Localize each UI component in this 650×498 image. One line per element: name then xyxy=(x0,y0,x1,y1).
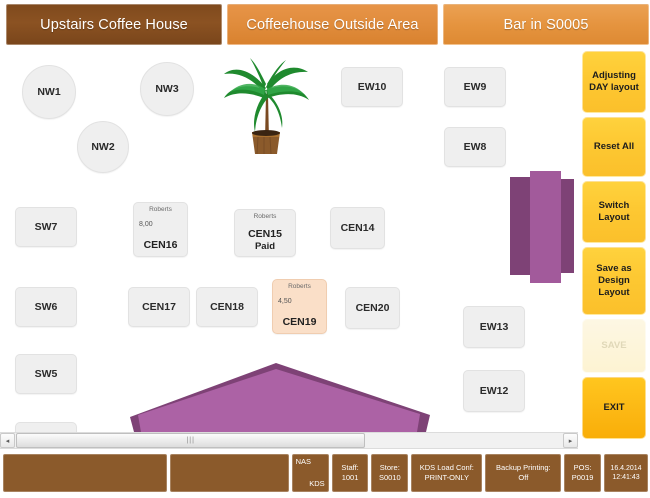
table-cen16[interactable]: Roberts 8,00 CEN16 xyxy=(133,202,188,257)
table-label: CEN19 xyxy=(273,316,326,328)
table-customer-name: Roberts xyxy=(134,206,187,213)
backup-printing-label: Backup Printing: xyxy=(496,463,551,473)
table-label: EW8 xyxy=(464,141,487,153)
floorplan-canvas[interactable]: NW1 NW3 NW2 EW10 EW9 EW8 SW7 Roberts 8,0… xyxy=(0,47,578,432)
table-label: CEN18 xyxy=(210,301,244,313)
backup-printing-value: Off xyxy=(518,473,528,483)
palm-plant-icon xyxy=(216,54,316,159)
pos-table-layout-screen: Upstairs Coffee House Coffeehouse Outsid… xyxy=(0,0,650,498)
tab-bar-in-s0005[interactable]: Bar in S0005 xyxy=(443,4,649,45)
table-label: CEN15 xyxy=(235,228,295,240)
table-sw4-partial[interactable] xyxy=(15,422,77,432)
table-cen17[interactable]: CEN17 xyxy=(128,287,190,327)
scroll-left-arrow-icon[interactable]: ◂ xyxy=(0,433,15,448)
table-sw5[interactable]: SW5 xyxy=(15,354,77,394)
tab-upstairs-coffee-house[interactable]: Upstairs Coffee House xyxy=(6,4,222,45)
table-label: EW9 xyxy=(464,81,487,93)
table-cen15[interactable]: Roberts CEN15 Paid xyxy=(234,209,296,257)
store-value: S0010 xyxy=(379,473,401,483)
tab-label: Coffeehouse Outside Area xyxy=(246,17,418,33)
table-amount: 8,00 xyxy=(139,221,153,228)
status-time: 12:41:43 xyxy=(612,473,639,482)
table-sw6[interactable]: SW6 xyxy=(15,287,77,327)
table-sw7[interactable]: SW7 xyxy=(15,207,77,247)
table-ew12[interactable]: EW12 xyxy=(463,370,525,412)
table-label: NW3 xyxy=(155,83,178,95)
pos-value: P0019 xyxy=(572,473,594,483)
staff-label: Staff: xyxy=(341,463,358,473)
table-customer-name: Roberts xyxy=(235,213,295,220)
tab-label: Upstairs Coffee House xyxy=(40,17,188,33)
table-ew10[interactable]: EW10 xyxy=(341,67,403,107)
table-cen20[interactable]: CEN20 xyxy=(345,287,400,329)
table-nw2[interactable]: NW2 xyxy=(77,121,129,173)
table-customer-name: Roberts xyxy=(273,283,326,290)
nas-label: NAS xyxy=(296,457,325,467)
table-label: EW10 xyxy=(358,81,387,93)
table-ew9[interactable]: EW9 xyxy=(444,67,506,107)
table-amount: 4,50 xyxy=(278,298,292,305)
table-label: SW5 xyxy=(35,368,58,380)
table-label: EW13 xyxy=(480,321,509,333)
kds-label: KDS xyxy=(296,479,325,489)
table-label: CEN20 xyxy=(356,302,390,314)
scrollbar-track[interactable]: ||| xyxy=(16,433,562,448)
table-label: EW12 xyxy=(480,385,509,397)
kds-load-conf-value: PRINT-ONLY xyxy=(425,473,469,483)
horizontal-scrollbar[interactable]: ◂ ||| ▸ xyxy=(0,432,578,449)
table-label: CEN17 xyxy=(142,301,176,313)
staff-value: 1001 xyxy=(342,473,359,483)
switch-layout-button[interactable]: Switch Layout xyxy=(582,181,646,243)
table-label: CEN14 xyxy=(341,222,375,234)
status-staff[interactable]: Staff: 1001 xyxy=(332,454,369,492)
table-paid-badge: Paid xyxy=(235,241,295,252)
status-datetime[interactable]: 16.4.2014 12:41:43 xyxy=(604,454,648,492)
save-as-design-layout-button[interactable]: Save as Design Layout xyxy=(582,247,646,315)
stage-platform-shape xyxy=(118,357,438,432)
status-nas-kds[interactable]: NAS KDS xyxy=(292,454,329,492)
status-blank-panel-1[interactable] xyxy=(3,454,167,492)
table-nw3[interactable]: NW3 xyxy=(140,62,194,116)
bar-counter-left xyxy=(510,177,532,275)
scroll-right-arrow-icon[interactable]: ▸ xyxy=(563,433,578,448)
status-backup-printing[interactable]: Backup Printing: Off xyxy=(485,454,561,492)
table-ew13[interactable]: EW13 xyxy=(463,306,525,348)
status-kds-load-conf[interactable]: KDS Load Conf: PRINT-ONLY xyxy=(411,454,482,492)
table-cen14[interactable]: CEN14 xyxy=(330,207,385,249)
table-label: NW1 xyxy=(37,86,60,98)
status-date: 16.4.2014 xyxy=(610,464,641,473)
exit-button[interactable]: EXIT xyxy=(582,377,646,439)
bar-counter-center xyxy=(530,171,561,283)
table-cen19[interactable]: Roberts 4,50 CEN19 xyxy=(272,279,327,334)
status-bar: NAS KDS Staff: 1001 Store: S0010 KDS Loa… xyxy=(0,451,650,498)
pos-label: POS: xyxy=(574,463,592,473)
kds-load-conf-label: KDS Load Conf: xyxy=(420,463,474,473)
action-sidebar: Adjusting DAY layout Reset All Switch La… xyxy=(578,47,650,451)
scrollbar-thumb[interactable]: ||| xyxy=(16,433,365,448)
save-button: SAVE xyxy=(582,319,646,373)
table-label: SW7 xyxy=(35,221,58,233)
table-cen18[interactable]: CEN18 xyxy=(196,287,258,327)
table-label: CEN16 xyxy=(134,239,187,251)
tab-label: Bar in S0005 xyxy=(503,17,588,33)
table-label: NW2 xyxy=(91,141,114,153)
table-nw1[interactable]: NW1 xyxy=(22,65,76,119)
status-store[interactable]: Store: S0010 xyxy=(371,454,408,492)
table-ew8[interactable]: EW8 xyxy=(444,127,506,167)
tab-coffeehouse-outside-area[interactable]: Coffeehouse Outside Area xyxy=(227,4,438,45)
table-label: SW6 xyxy=(35,301,58,313)
adjusting-day-layout-button[interactable]: Adjusting DAY layout xyxy=(582,51,646,113)
area-tab-bar: Upstairs Coffee House Coffeehouse Outsid… xyxy=(0,0,650,47)
status-blank-panel-2[interactable] xyxy=(170,454,289,492)
store-label: Store: xyxy=(380,463,400,473)
status-pos[interactable]: POS: P0019 xyxy=(564,454,601,492)
reset-all-button[interactable]: Reset All xyxy=(582,117,646,177)
